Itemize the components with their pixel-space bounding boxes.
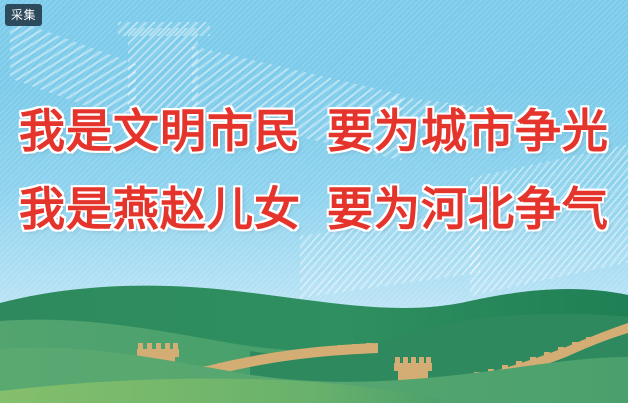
slogan-line-1-left: 我是文明市民: [19, 92, 301, 170]
watermark-tower-cap-icon: [118, 22, 210, 36]
slogan-line-2: 我是燕赵儿女 要为河北争气: [0, 170, 628, 248]
slogan-line-1: 我是文明市民 要为城市争光: [0, 92, 628, 170]
hills-illustration: [0, 273, 628, 403]
slogan-block: 我是文明市民 要为城市争光 我是燕赵儿女 要为河北争气: [0, 92, 628, 248]
poster-canvas: 我是文明市民 要为城市争光 我是燕赵儿女 要为河北争气 采集: [0, 0, 628, 403]
capture-button[interactable]: 采集: [5, 4, 42, 26]
slogan-line-2-right: 要为河北争气: [327, 170, 609, 248]
slogan-line-1-right: 要为城市争光: [327, 92, 609, 170]
slogan-line-2-left: 我是燕赵儿女: [19, 170, 301, 248]
